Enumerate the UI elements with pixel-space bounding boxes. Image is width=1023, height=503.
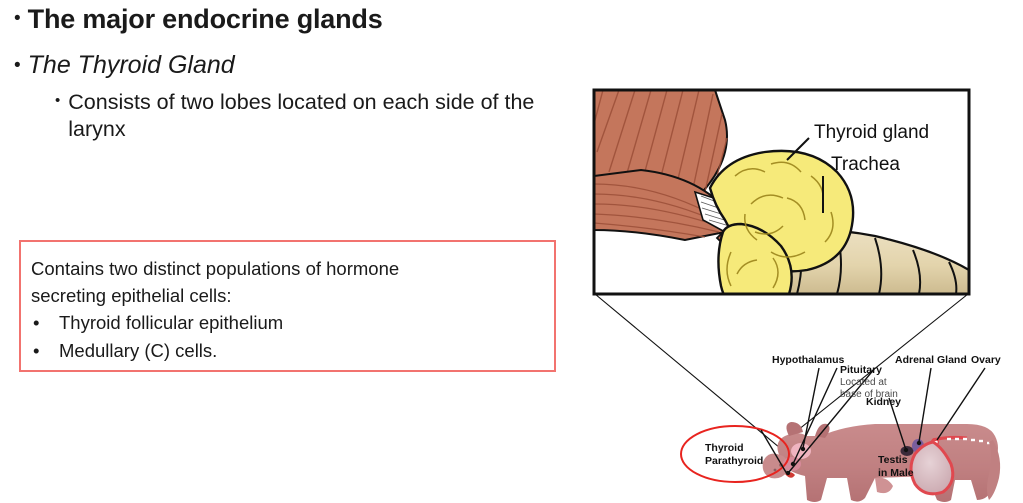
label-hypothalamus: Hypothalamus	[772, 354, 845, 366]
callout-line-2: secreting epithelial cells:	[31, 285, 232, 307]
label-testis: Testis	[878, 454, 908, 466]
cow-endocrine-illustration: Hypothalamus Pituitary Located at base o…	[681, 354, 1001, 502]
title-bullet-row: • The major endocrine glands	[14, 4, 383, 35]
callout-item-1: Medullary (C) cells.	[59, 340, 217, 362]
label-pituitary: Pituitary	[840, 364, 882, 376]
label-kidney: Kidney	[866, 396, 901, 408]
label-trachea: Trachea	[831, 154, 900, 175]
label-parathyroid: Parathyroid	[705, 455, 763, 467]
page-subtitle: The Thyroid Gland	[28, 51, 235, 80]
label-thyroid-gland: Thyroid gland	[814, 122, 929, 143]
sub-bullet-row: • Consists of two lobes located on each …	[55, 89, 565, 143]
label-ovary: Ovary	[971, 354, 1001, 366]
figure-group: Thyroid gland Trachea	[575, 80, 1023, 503]
bullet-dot-icon: •	[14, 9, 21, 28]
callout-bullet-dot-icon: •	[33, 340, 39, 362]
subtitle-bullet-row: • The Thyroid Gland	[14, 51, 235, 80]
callout-item-0: Thyroid follicular epithelium	[59, 312, 283, 334]
callout-line-1: Contains two distinct populations of hor…	[31, 258, 399, 280]
callout-bullet-dot-icon: •	[33, 312, 39, 334]
slide-canvas: • The major endocrine glands • The Thyro…	[0, 0, 1023, 503]
label-thyroid: Thyroid	[705, 442, 744, 454]
sub-bullet-text: Consists of two lobes located on each si…	[68, 89, 565, 143]
label-adrenal-gland: Adrenal Gland	[895, 354, 967, 366]
bullet-dot-icon: •	[14, 56, 21, 75]
bullet-dot-icon: •	[55, 93, 60, 108]
label-pituitary-note-1: Located at	[840, 377, 887, 388]
text-column: • The major endocrine glands • The Thyro…	[0, 0, 580, 503]
callout-box: Contains two distinct populations of hor…	[19, 240, 556, 372]
label-testis-note: in Male	[878, 467, 914, 479]
page-title: The major endocrine glands	[28, 4, 383, 35]
